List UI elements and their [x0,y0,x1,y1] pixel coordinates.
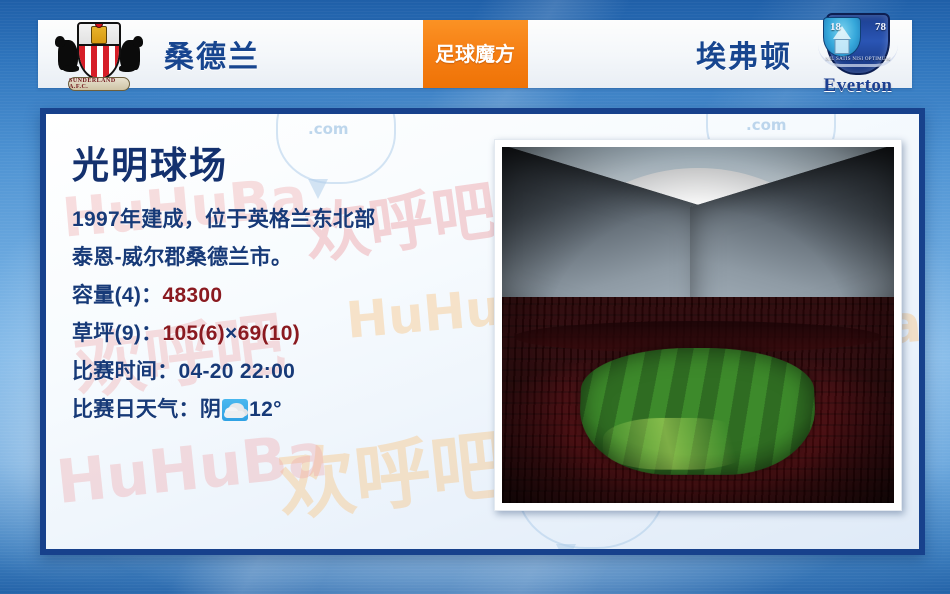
crest-club-name: Everton [810,75,906,97]
capacity-value: 48300 [162,284,222,307]
home-team-block[interactable]: SUNDERLAND A.F.C. 桑德兰 [38,20,423,88]
pitch-width-value: 69(10) [238,322,301,345]
crest-scroll-text: SUNDERLAND A.F.C. [68,77,130,91]
stadium-description-line-1: 1997年建成，位于英格兰东北部 [72,201,482,239]
site-logo-text: 足球魔方 [435,44,515,64]
match-time-label: 比赛时间： [72,360,179,383]
lion-left-icon [58,40,78,70]
watermark-domain: .com [308,120,349,138]
app-root: SUNDERLAND A.F.C. 桑德兰 足球魔方 埃弗顿 18 78 NIL… [0,0,950,594]
watermark-latin: HuHuBa [53,420,331,518]
photo-pitch-sunlight [602,418,751,470]
shield-shape [77,22,121,80]
pitch-separator: × [225,322,238,345]
cloudy-icon [222,399,248,421]
stadium-photo [502,147,894,503]
site-logo[interactable]: 足球魔方 [423,20,528,88]
stadium-description-line-2: 泰恩-威尔郡桑德兰市。 [72,239,482,277]
match-header-bar: SUNDERLAND A.F.C. 桑德兰 足球魔方 埃弗顿 18 78 NIL… [38,20,912,88]
weather-row: 比赛日天气：阴12° [72,391,482,429]
away-team-block[interactable]: 埃弗顿 18 78 NIL SATIS NISI OPTIMUM Everton [528,20,913,88]
shield-top-band [79,24,119,46]
weather-condition: 阴 [200,398,221,421]
match-time-row: 比赛时间：04-20 22:00 [72,353,482,391]
watermark-domain: .com [746,116,787,134]
capacity-row: 容量(4)：48300 [72,277,482,315]
pitch-row: 草坪(9)：105(6)×69(10) [72,315,482,353]
weather-label: 比赛日天气： [72,398,200,421]
crest-motto: NIL SATIS NISI OPTIMUM [822,53,894,66]
crest-year-right: 78 [875,21,886,33]
photo-pitch [578,348,819,475]
stadium-title: 光明球场 [72,146,482,187]
stadium-photo-frame[interactable] [494,139,902,511]
away-team-name: 埃弗顿 [696,32,792,76]
stadium-info-text: 光明球场 1997年建成，位于英格兰东北部 泰恩-威尔郡桑德兰市。 容量(4)：… [72,146,482,429]
pitch-length-value: 105(6) [162,322,225,345]
capacity-label: 容量(4)： [72,284,162,307]
home-team-name: 桑德兰 [164,32,260,76]
match-time-value: 04-20 22:00 [179,360,296,383]
lighthouse-icon [91,26,107,44]
lion-right-icon [120,40,140,70]
crest-year-left: 18 [830,21,841,33]
pitch-label: 草坪(9)： [72,322,162,345]
everton-crest-icon: 18 78 NIL SATIS NISI OPTIMUM Everton [810,9,906,99]
sunderland-crest-icon: SUNDERLAND A.F.C. [56,14,142,96]
beacon-icon [95,22,103,28]
weather-temperature: 12° [249,398,282,421]
